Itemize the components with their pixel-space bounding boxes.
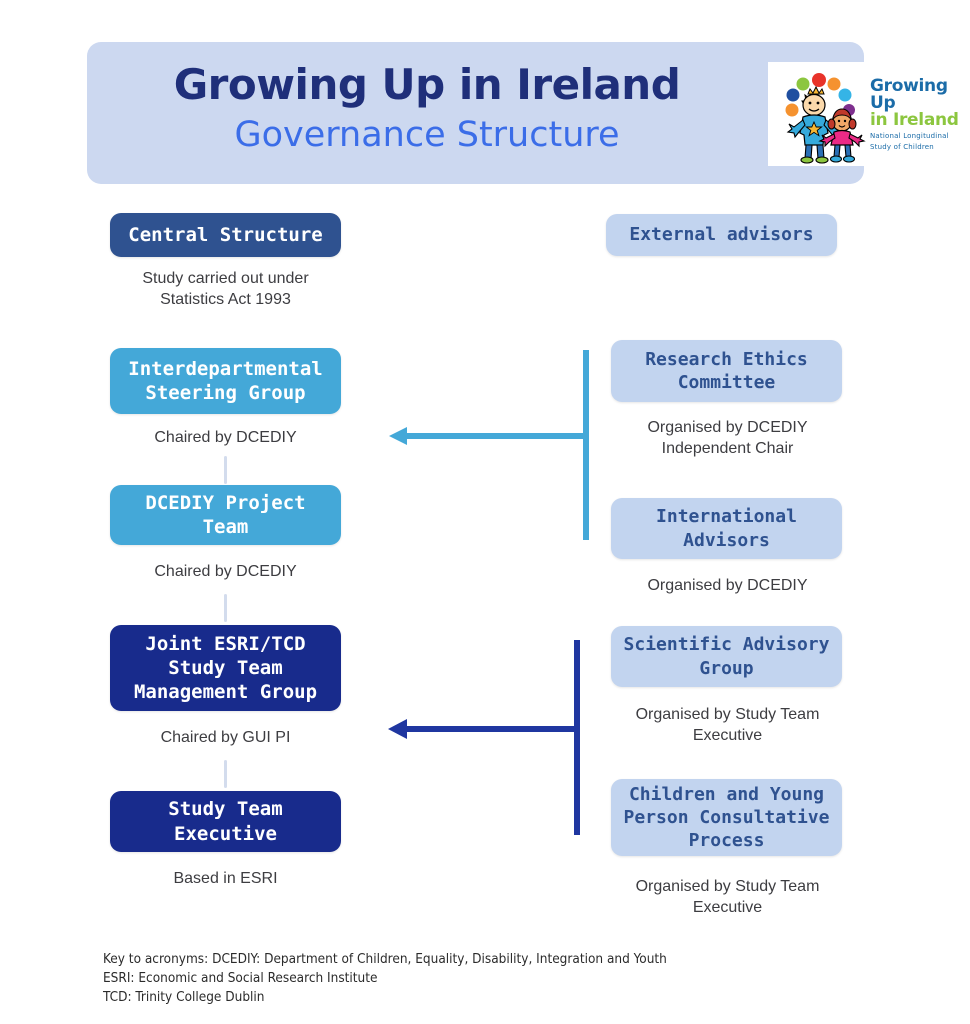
central-structure-heading-caption: Study carried out under Statistics Act 1… <box>108 268 343 311</box>
node-label-line: Steering Group <box>145 381 305 405</box>
caption-research-ethics-committee: Organised by DCEDIY Independent Chair <box>610 417 845 460</box>
caption-study-team-executive: Based in ESRI <box>108 868 343 889</box>
node-label-line: Group <box>699 657 753 680</box>
node-label-line: Scientific Advisory <box>624 633 830 656</box>
caption-line: Executive <box>610 725 845 746</box>
caption-line: Based in ESRI <box>108 868 343 889</box>
page-subtitle: Governance Structure <box>87 114 767 158</box>
node-label-line: Person Consultative <box>624 806 830 829</box>
node-research-ethics-committee[interactable]: Research Ethics Committee <box>611 340 842 402</box>
gui-logo-panel: Growing Up in Ireland National Longitudi… <box>768 62 962 166</box>
arrow-external-advisors-to-steering-group <box>385 350 600 540</box>
caption-interdepartmental-steering-group: Chaired by DCEDIY <box>108 427 343 448</box>
node-joint-esri-tcd-management-group[interactable]: Joint ESRI/TCD Study Team Management Gro… <box>110 625 341 711</box>
acronym-key-footer: Key to acronyms: DCEDIY: Department of C… <box>103 950 743 1007</box>
caption-line: Chaired by DCEDIY <box>108 427 343 448</box>
caption-joint-esri-tcd-management-group: Chaired by GUI PI <box>108 727 343 748</box>
node-label-line: Joint ESRI/TCD <box>145 632 305 656</box>
footer-line-1: Key to acronyms: DCEDIY: Department of C… <box>103 950 743 969</box>
node-dcediy-project-team[interactable]: DCEDIY Project Team <box>110 485 341 545</box>
node-label-line: Process <box>689 829 765 852</box>
caption-line: Independent Chair <box>610 438 845 459</box>
footer-line-2: ESRI: Economic and Social Research Insti… <box>103 969 743 988</box>
logo-wordmark-line3b: Study of Children <box>870 143 962 152</box>
node-label-line: Executive <box>174 822 277 846</box>
caption-line: Organised by Study Team <box>610 704 845 725</box>
node-label-line: Research Ethics <box>645 348 808 371</box>
central-structure-heading-label: Central Structure <box>128 223 322 247</box>
connector-management-group-to-study-team-executive <box>224 760 227 788</box>
node-interdepartmental-steering-group[interactable]: Interdepartmental Steering Group <box>110 348 341 414</box>
caption-children-young-person-consultative-process: Organised by Study Team Executive <box>610 876 845 919</box>
caption-international-advisors: Organised by DCEDIY <box>610 575 845 596</box>
arrow-external-advisors-to-management-group <box>385 640 590 835</box>
node-label-line: DCEDIY Project <box>145 491 305 515</box>
caption-line: Chaired by DCEDIY <box>108 561 343 582</box>
caption-line: Chaired by GUI PI <box>108 727 343 748</box>
node-label-line: Study Team <box>168 656 282 680</box>
node-scientific-advisory-group[interactable]: Scientific Advisory Group <box>611 626 842 687</box>
node-international-advisors[interactable]: International Advisors <box>611 498 842 559</box>
caption-line: Study carried out under <box>108 268 343 289</box>
caption-line: Executive <box>610 897 845 918</box>
external-advisors-heading-label: External advisors <box>629 223 813 246</box>
caption-line: Organised by Study Team <box>610 876 845 897</box>
page-title-block: Growing Up in Ireland Governance Structu… <box>87 60 767 157</box>
logo-wordmark-line3a: National Longitudinal <box>870 132 962 141</box>
node-label-line: Advisors <box>683 529 770 552</box>
node-label-line: International <box>656 505 797 528</box>
node-study-team-executive[interactable]: Study Team Executive <box>110 791 341 852</box>
node-label-line: Team <box>203 515 249 539</box>
logo-wordmark: Growing Up in Ireland National Longitudi… <box>870 78 962 152</box>
page-title: Growing Up in Ireland <box>87 60 767 110</box>
node-label-line: Interdepartmental <box>128 357 322 381</box>
footer-line-3: TCD: Trinity College Dublin <box>103 988 743 1007</box>
node-children-young-person-consultative-process[interactable]: Children and Young Person Consultative P… <box>611 779 842 856</box>
caption-line: Organised by DCEDIY <box>610 417 845 438</box>
node-label-line: Committee <box>678 371 776 394</box>
central-structure-heading-box[interactable]: Central Structure <box>110 213 341 257</box>
logo-wordmark-line2: in Ireland <box>870 112 962 130</box>
external-advisors-heading-box[interactable]: External advisors <box>606 214 837 256</box>
node-label-line: Study Team <box>168 797 282 821</box>
connector-steering-to-project-team <box>224 456 227 484</box>
connector-project-team-to-management-group <box>224 594 227 622</box>
node-label-line: Management Group <box>134 680 317 704</box>
logo-wordmark-line1: Growing Up <box>870 78 962 112</box>
caption-dcediy-project-team: Chaired by DCEDIY <box>108 561 343 582</box>
node-label-line: Children and Young <box>629 783 824 806</box>
caption-line: Organised by DCEDIY <box>610 575 845 596</box>
children-juggling-illustration-icon <box>770 64 870 164</box>
caption-scientific-advisory-group: Organised by Study Team Executive <box>610 704 845 747</box>
caption-line: Statistics Act 1993 <box>108 289 343 310</box>
